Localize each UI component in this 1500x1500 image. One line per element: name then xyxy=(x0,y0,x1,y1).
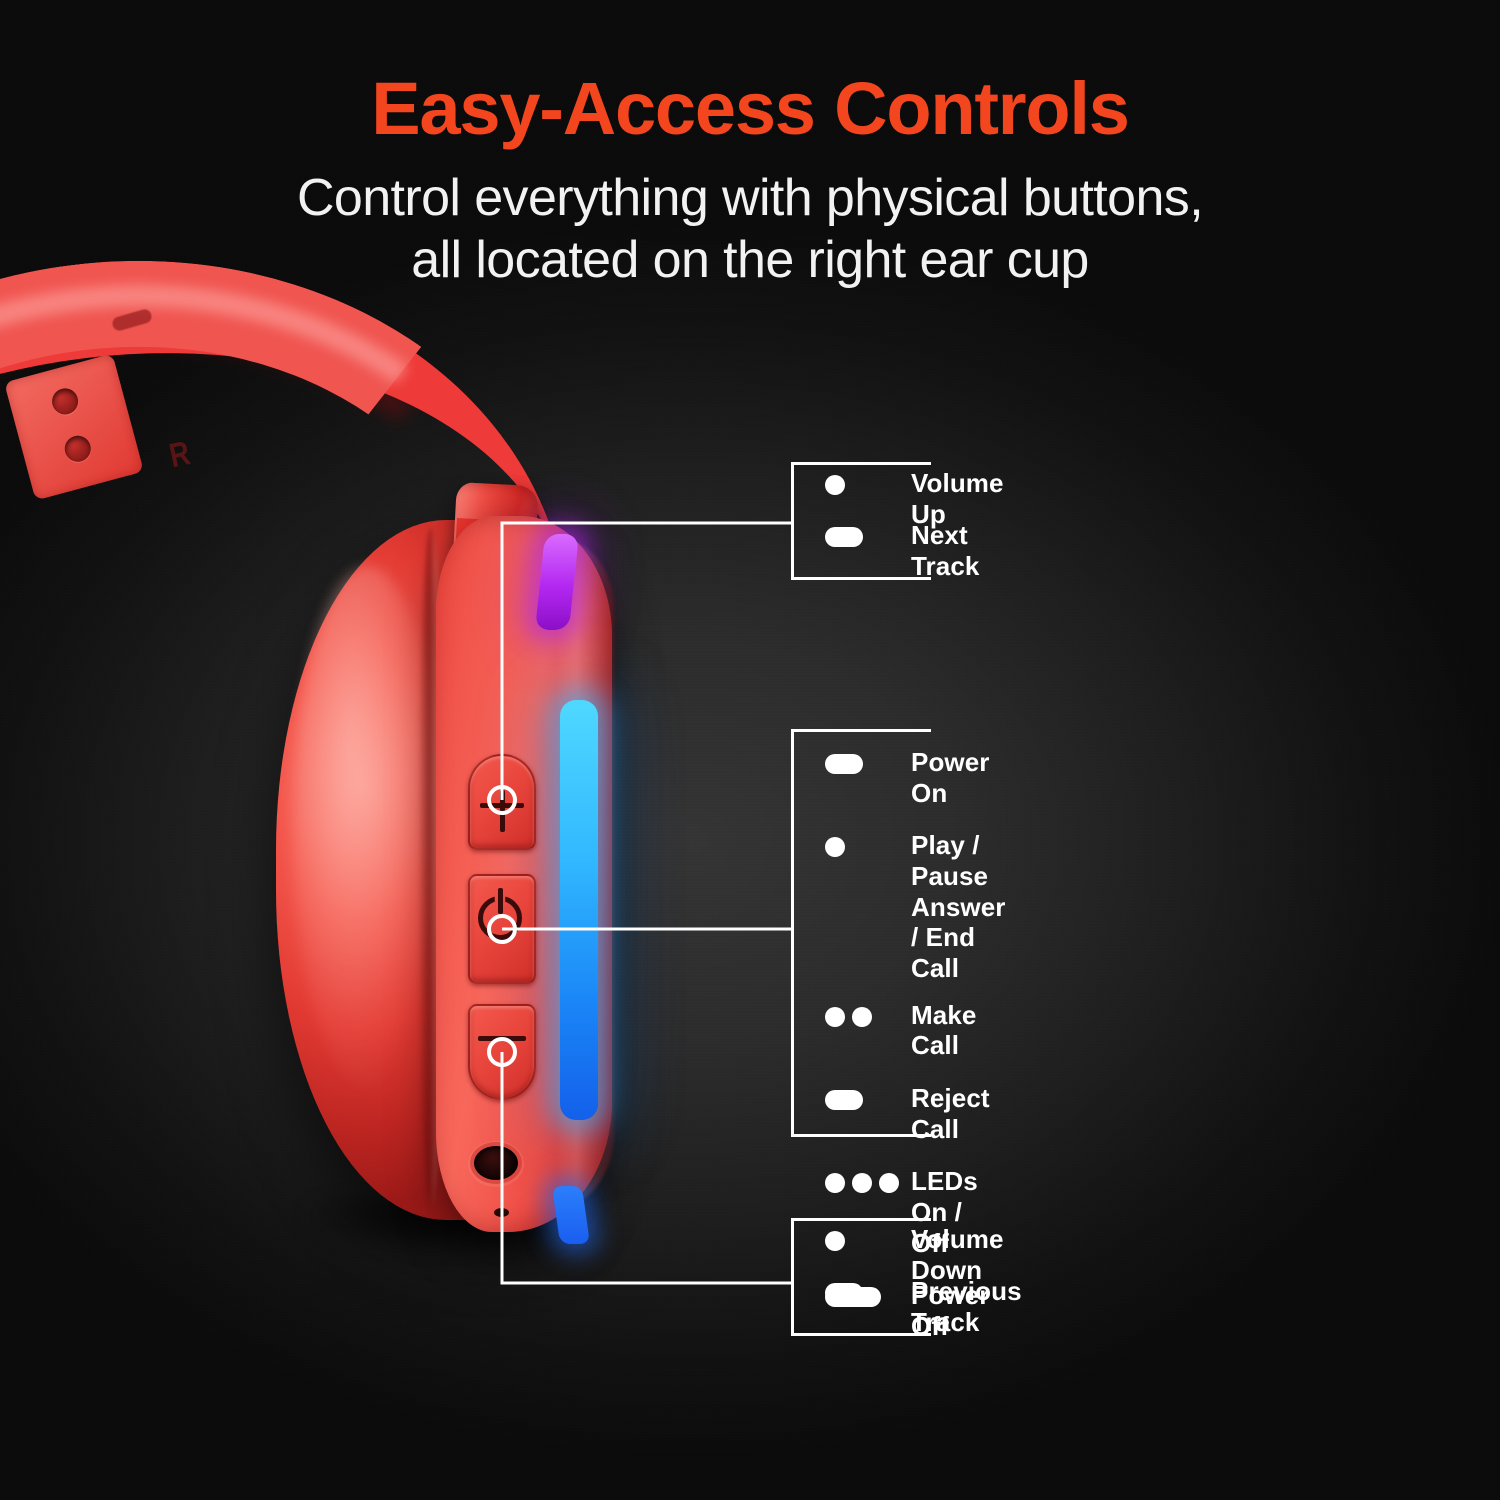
callout-row-list: Volume Up Next Track xyxy=(825,468,1004,572)
hold-pill-icon xyxy=(825,1283,863,1303)
bracket-spine xyxy=(791,462,794,580)
hold-pill-icon xyxy=(825,527,863,547)
list-item: Power On xyxy=(825,747,1006,808)
callout-power-button: Power On Play / Pause Answer / End Call … xyxy=(791,729,931,1137)
hold-pill-icon xyxy=(825,754,863,774)
gesture-single-press-icon xyxy=(825,1224,911,1251)
connector-volume-down xyxy=(502,1052,791,1283)
list-item: Reject Call xyxy=(825,1083,1006,1144)
press-dot-icon xyxy=(825,1231,845,1251)
callout-label: Play / Pause Answer / End Call xyxy=(911,830,1006,983)
bracket-spine xyxy=(791,729,794,1137)
page-subtitle: Control everything with physical buttons… xyxy=(0,168,1500,292)
list-item: Volume Down xyxy=(825,1224,1022,1276)
bracket-arm-top xyxy=(791,729,931,732)
hold-pill-icon xyxy=(825,1090,863,1110)
gesture-press-and-hold-icon xyxy=(825,747,911,774)
list-item: Make Call xyxy=(825,1000,1006,1061)
press-dot-icon xyxy=(825,1173,845,1193)
callout-label: Previous Track xyxy=(911,1276,1022,1337)
callout-label: Reject Call xyxy=(911,1083,1006,1144)
bracket-arm-top xyxy=(791,462,931,465)
bracket-spine xyxy=(791,1218,794,1336)
callout-row-list: Volume Down Previous Track xyxy=(825,1224,1022,1328)
press-dot-icon xyxy=(825,1007,845,1027)
press-dot-icon xyxy=(852,1173,872,1193)
subtitle-line-1: Control everything with physical buttons… xyxy=(0,168,1500,230)
callout-volume-up: Volume Up Next Track xyxy=(791,462,931,580)
list-item: Previous Track xyxy=(825,1276,1022,1328)
list-item: Next Track xyxy=(825,520,1004,572)
connector-volume-up xyxy=(502,523,791,800)
page-title: Easy-Access Controls xyxy=(0,72,1500,146)
press-dot-icon xyxy=(879,1173,899,1193)
bracket-arm-bottom xyxy=(791,577,931,580)
callout-label: Next Track xyxy=(911,520,1004,581)
heading-block: Easy-Access Controls Control everything … xyxy=(0,0,1500,292)
infographic-canvas: R xyxy=(0,0,1500,1500)
gesture-triple-press-icon xyxy=(825,1166,911,1193)
list-item: Volume Up xyxy=(825,468,1004,520)
bracket-arm-top xyxy=(791,1218,931,1221)
gesture-double-press-icon xyxy=(825,1000,911,1027)
gesture-single-press-icon xyxy=(825,468,911,495)
gesture-press-and-hold-icon xyxy=(825,1083,911,1110)
press-dot-icon xyxy=(825,475,845,495)
callout-volume-down: Volume Down Previous Track xyxy=(791,1218,931,1336)
gesture-press-and-hold-icon xyxy=(825,1276,911,1303)
press-dot-icon xyxy=(825,837,845,857)
gesture-single-press-icon xyxy=(825,830,911,857)
callout-label: Make Call xyxy=(911,1000,1006,1061)
bracket-arm-bottom xyxy=(791,1333,931,1336)
gesture-press-and-hold-icon xyxy=(825,520,911,547)
press-dot-icon xyxy=(852,1007,872,1027)
list-item: Play / Pause Answer / End Call xyxy=(825,830,1006,983)
callout-label: Power On xyxy=(911,747,1006,808)
subtitle-line-2: all located on the right ear cup xyxy=(0,230,1500,292)
